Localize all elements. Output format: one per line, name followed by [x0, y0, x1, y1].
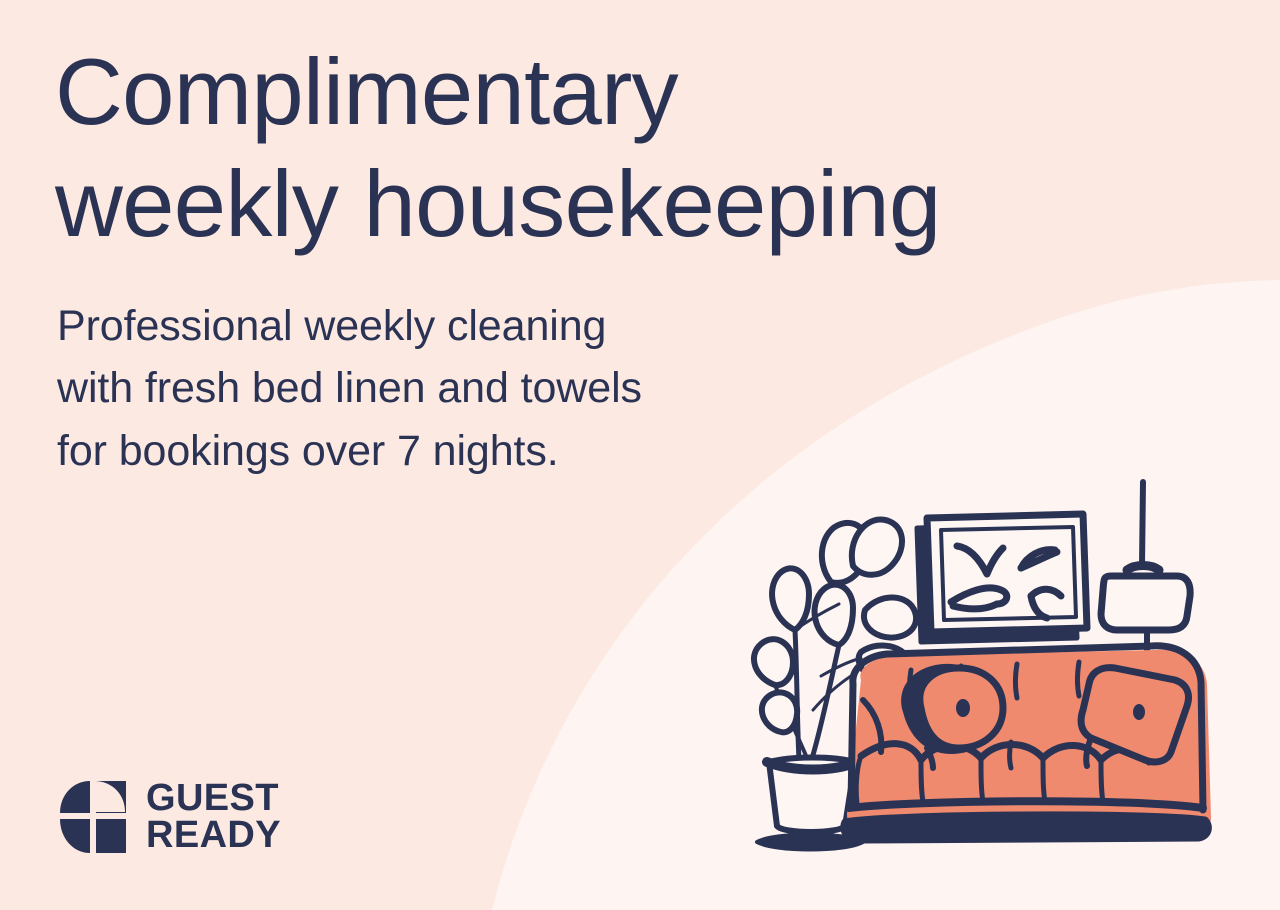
promotional-banner: Complimentary weekly housekeeping Profes… [0, 0, 1280, 910]
cushion-button [1133, 704, 1145, 720]
brand-name-line-2: READY [146, 817, 281, 854]
framed-wall-art-icon [917, 514, 1087, 642]
coral-sofa-icon [844, 646, 1211, 840]
subtitle-text: Professional weekly cleaning with fresh … [57, 295, 817, 482]
cushion-button [956, 699, 970, 717]
guestready-quadrant-mark-icon [57, 779, 129, 855]
brand-logo: GUEST READY [57, 779, 281, 855]
living-room-illustration [735, 470, 1255, 870]
brand-wordmark: GUEST READY [146, 780, 281, 854]
page-title: Complimentary weekly housekeeping [55, 36, 1095, 260]
brand-name-line-1: GUEST [146, 780, 281, 817]
pendant-lamp-icon [1101, 482, 1190, 670]
